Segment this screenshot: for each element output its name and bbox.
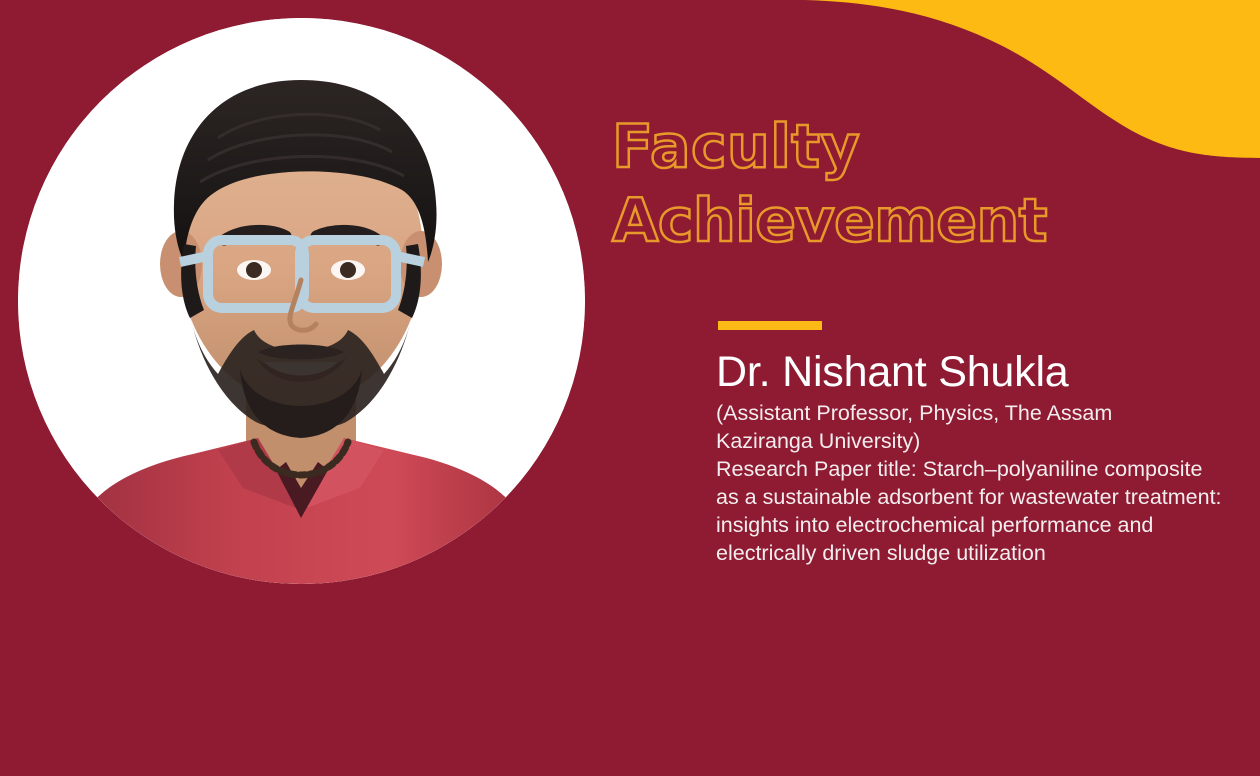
page-title: Faculty Achievement [612, 110, 1172, 258]
person-name: Dr. Nishant Shukla [716, 347, 1226, 397]
accent-bar [718, 321, 822, 330]
portrait-photo [18, 18, 585, 584]
faculty-achievement-card: Faculty Achievement Dr. Nishant Shukla (… [0, 0, 1260, 776]
title-line-achievement: Achievement [612, 184, 1172, 258]
portrait-illustration [18, 18, 585, 584]
title-line-faculty: Faculty [612, 110, 1172, 184]
person-affiliation: (Assistant Professor, Physics, The Assam… [716, 399, 1186, 455]
person-details: Dr. Nishant Shukla (Assistant Professor,… [714, 347, 1226, 567]
research-paper-title: Research Paper title: Starch–polyaniline… [716, 455, 1226, 567]
